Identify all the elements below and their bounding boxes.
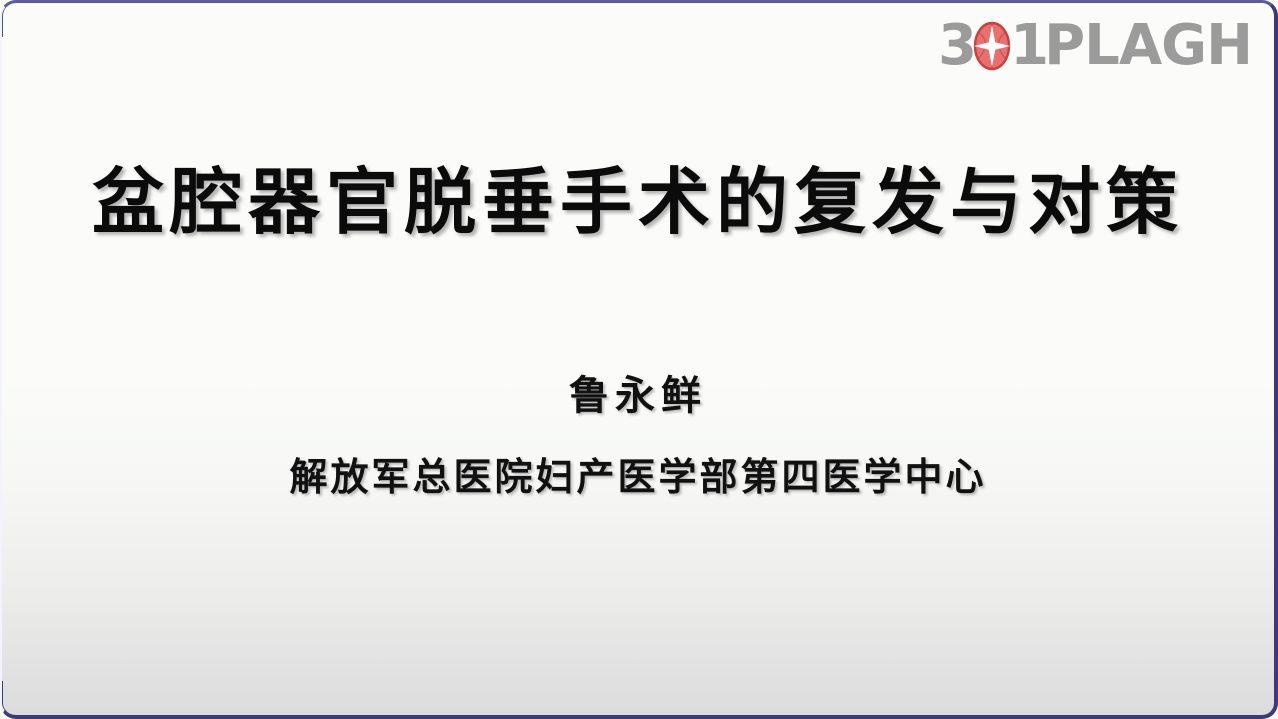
frame-corner-bottom-left xyxy=(0,681,37,719)
author-name: 鲁永鲜 xyxy=(2,370,1274,422)
brain-icon xyxy=(972,21,1012,71)
presentation-slide: 3 1 PLAGH 盆腔器官脱垂手术的复发与对策 xyxy=(0,0,1278,719)
logo-digit-3: 3 xyxy=(938,18,974,74)
logo-wordmark: PLAGH xyxy=(1044,18,1252,74)
slide-title: 盆腔器官脱垂手术的复发与对策 xyxy=(2,155,1274,251)
slide-frame: 3 1 PLAGH 盆腔器官脱垂手术的复发与对策 xyxy=(0,0,1278,719)
logo-digit-1: 1 xyxy=(1010,18,1046,74)
logo-mark: 3 1 xyxy=(938,15,1046,77)
plagh-logo: 3 1 PLAGH xyxy=(938,15,1252,77)
frame-corner-top-left xyxy=(0,0,37,37)
author-affiliation: 解放军总医院妇产医学部第四医学中心 xyxy=(2,453,1274,503)
